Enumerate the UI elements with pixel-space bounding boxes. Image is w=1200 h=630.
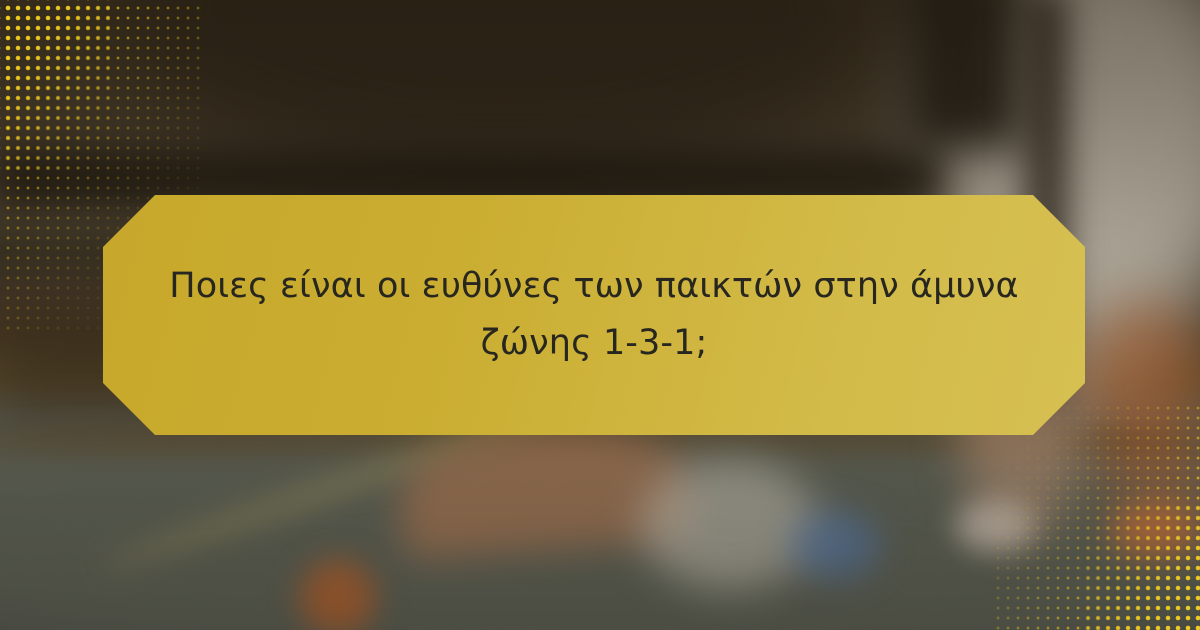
question-banner: Ποιες είναι οι ευθύνες των παικτών στην … — [103, 195, 1085, 435]
share-card-canvas: Ποιες είναι οι ευθύνες των παικτών στην … — [0, 0, 1200, 630]
question-title: Ποιες είναι οι ευθύνες των παικτών στην … — [164, 258, 1024, 371]
